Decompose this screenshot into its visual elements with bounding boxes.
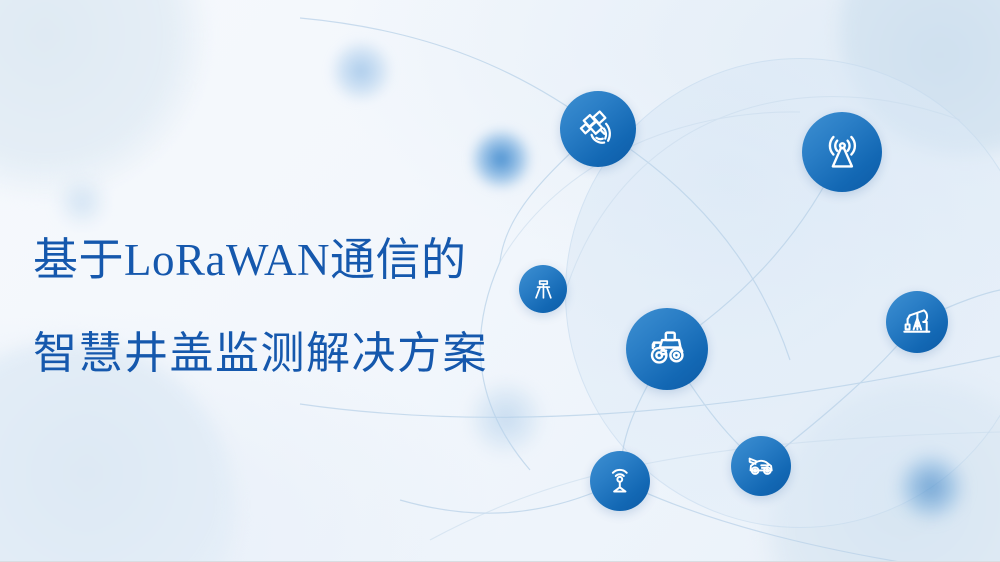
node-broadcast-tower[interactable] — [802, 112, 882, 192]
wireless-sensor-icon — [590, 451, 650, 511]
node-satellite-dish[interactable] — [560, 91, 636, 167]
decor-dot-pale-left — [55, 175, 109, 229]
mower-vehicle-icon — [731, 436, 791, 496]
decor-dot-pale-lower — [468, 380, 544, 456]
slide-title: 基于LoRaWAN通信的 智慧井盖监测解决方案 — [33, 231, 573, 385]
decor-blob-bottom-right — [770, 381, 1000, 562]
decor-dot-blue-mid — [470, 128, 532, 190]
decor-dot-pale-upper — [330, 40, 392, 102]
oil-pumpjack-icon — [886, 291, 948, 353]
satellite-dish-icon — [560, 91, 636, 167]
tractor-icon — [626, 308, 708, 390]
decor-blob-top-left — [0, 0, 210, 200]
title-line-secondary: 智慧井盖监测解决方案 — [33, 323, 573, 385]
node-mower-vehicle[interactable] — [731, 436, 791, 496]
presentation-slide: 基于LoRaWAN通信的 智慧井盖监测解决方案 — [0, 0, 1000, 562]
title-line-primary: 基于LoRaWAN通信的 — [33, 231, 573, 289]
decor-dot-blue-bottom-right — [896, 452, 966, 522]
broadcast-tower-icon — [802, 112, 882, 192]
node-wireless-sensor[interactable] — [590, 451, 650, 511]
node-oil-pumpjack[interactable] — [886, 291, 948, 353]
node-tractor[interactable] — [626, 308, 708, 390]
